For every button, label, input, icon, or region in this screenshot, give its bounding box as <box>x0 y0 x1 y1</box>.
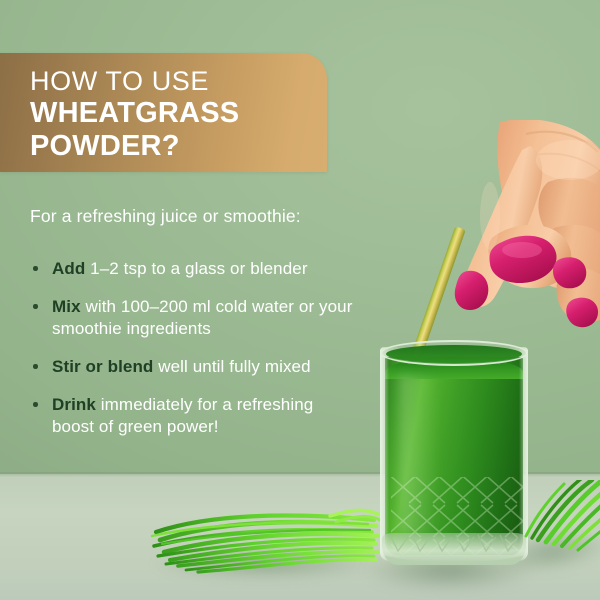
step-rest: 1–2 tsp to a glass or blender <box>85 259 307 278</box>
heading-line-2: WHEATGRASS <box>30 97 310 130</box>
bullet-dot-icon <box>33 364 38 369</box>
step-lead: Add <box>52 259 85 278</box>
bullet-dot-icon <box>33 402 38 407</box>
instruction-list: Add 1–2 tsp to a glass or blender Mix wi… <box>30 258 360 438</box>
heading-line-3: POWDER? <box>30 130 310 163</box>
wheatgrass-right-cluster <box>520 480 600 575</box>
bullet-dot-icon <box>33 304 38 309</box>
header-text-group: HOW TO USE WHEATGRASS POWDER? <box>30 65 310 163</box>
step-rest: with 100–200 ml cold water or your smoot… <box>52 297 353 338</box>
green-juice <box>385 357 523 555</box>
list-item: Stir or blend well until fully mixed <box>30 356 360 378</box>
list-item: Mix with 100–200 ml cold water or your s… <box>30 296 360 340</box>
heading-line-1: HOW TO USE <box>30 65 310 97</box>
wheatgrass-bundle <box>150 506 380 578</box>
bullet-dot-icon <box>33 266 38 271</box>
header-banner: HOW TO USE WHEATGRASS POWDER? <box>0 53 327 172</box>
intro-text: For a refreshing juice or smoothie: <box>30 204 301 228</box>
glass-rim-inner <box>386 345 522 363</box>
step-lead: Mix <box>52 297 81 316</box>
list-item: Add 1–2 tsp to a glass or blender <box>30 258 360 280</box>
step-rest: well until fully mixed <box>153 357 310 376</box>
step-lead: Drink <box>52 395 96 414</box>
poster-canvas: HOW TO USE WHEATGRASS POWDER? For a refr… <box>0 0 600 600</box>
juice-glass <box>380 337 528 569</box>
list-item: Drink immediately for a refreshing boost… <box>30 394 360 438</box>
glass-base <box>382 533 526 565</box>
step-lead: Stir or blend <box>52 357 153 376</box>
glass-left-highlight <box>380 347 389 561</box>
